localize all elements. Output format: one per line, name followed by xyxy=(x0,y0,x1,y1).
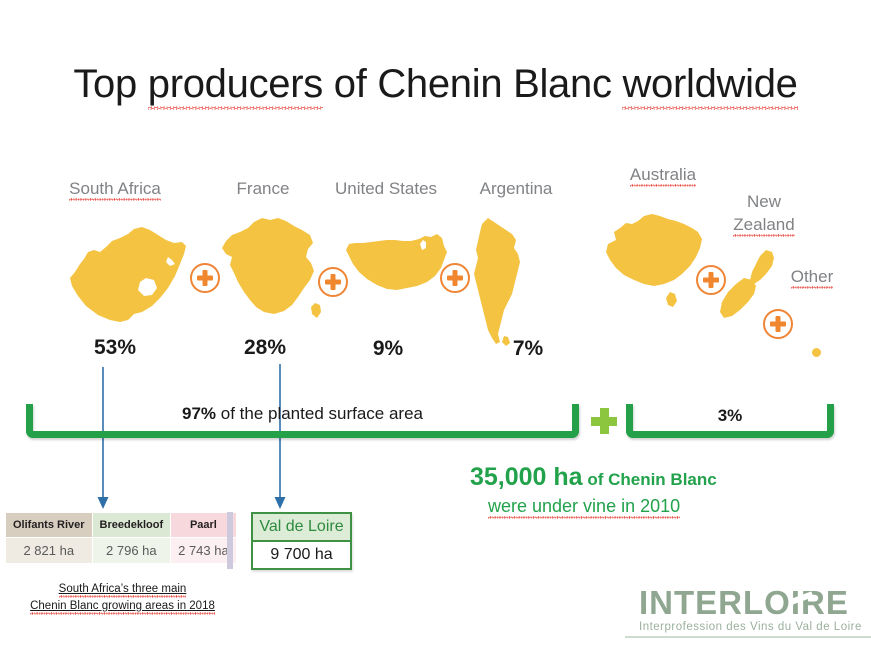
percent-united-states: 9% xyxy=(344,337,432,361)
country-label-text-line2: Zealand xyxy=(733,215,794,237)
argentina-map xyxy=(468,214,524,350)
stat-subline-text: were under vine in 2010 xyxy=(488,496,680,519)
plus-icon-2 xyxy=(318,267,348,297)
table-header-cell: Breedekloof xyxy=(92,513,171,538)
logo-word-a: INTERLOI xyxy=(639,584,801,621)
country-label-text: Argentina xyxy=(480,179,553,198)
val-de-loire-header: Val de Loire xyxy=(253,514,350,542)
table-cell: 2 796 ha xyxy=(92,538,171,564)
percent-france: 28% xyxy=(212,336,318,360)
table-cell: 2 821 ha xyxy=(6,538,93,564)
country-label-united-states: United States xyxy=(316,178,456,199)
logo-divider xyxy=(625,636,871,638)
plus-icon-1 xyxy=(190,263,220,293)
country-label-text: Australia xyxy=(630,165,696,187)
bracket-major-percent: 97% xyxy=(182,404,216,423)
logo-wordmark: INTERLOIRE xyxy=(639,586,867,620)
south-africa-areas-table: Olifants River Breedekloof Paarl 2 821 h… xyxy=(5,512,237,564)
caption-line-1: South Africa’s three main xyxy=(59,583,187,598)
title-part-1: Top xyxy=(73,62,147,106)
caption-line-2: Chenin Blanc growing areas in 2018 xyxy=(30,600,215,615)
bracket-major-text: of the planted surface area xyxy=(216,404,423,423)
country-label-south-africa: South Africa xyxy=(35,178,195,199)
plus-operator-icon xyxy=(591,408,617,434)
percent-south-africa: 53% xyxy=(55,336,175,360)
val-de-loire-box: Val de Loire 9 700 ha xyxy=(251,512,352,570)
stat-of-what: of Chenin Blanc xyxy=(583,470,717,489)
val-de-loire-value: 9 700 ha xyxy=(253,542,350,568)
bracket-minor-label: 3% xyxy=(626,406,834,426)
title-part-2: producers xyxy=(148,62,323,110)
table-header-row: Olifants River Breedekloof Paarl xyxy=(6,513,237,538)
table-right-edge xyxy=(227,512,233,569)
country-label-text: United States xyxy=(335,179,437,198)
page-title: Top producers of Chenin Blanc worldwide xyxy=(0,62,871,107)
united-states-map xyxy=(343,228,457,300)
arrow-val-de-loire xyxy=(262,364,298,512)
plus-icon-3 xyxy=(440,263,470,293)
country-label-text-line1: New xyxy=(747,192,781,211)
country-label-france: France xyxy=(203,178,323,199)
slide-canvas: Top producers of Chenin Blanc worldwide … xyxy=(0,0,871,648)
stat-amount: 35,000 ha xyxy=(470,463,583,491)
table-caption: South Africa’s three main Chenin Blanc g… xyxy=(0,581,245,615)
country-label-text: Other xyxy=(791,267,834,289)
plus-icon-5 xyxy=(763,309,793,339)
percent-argentina: 7% xyxy=(487,337,569,361)
country-label-text: France xyxy=(237,179,290,198)
south-africa-map xyxy=(62,216,190,324)
arrow-south-africa xyxy=(85,367,121,512)
logo-tagline: Interprofession des Vins du Val de Loire xyxy=(639,621,867,633)
country-label-text: South Africa xyxy=(69,179,161,201)
table-row: 2 821 ha 2 796 ha 2 743 ha xyxy=(6,538,237,564)
interloire-logo: INTERLOIRE Interprofession des Vins du V… xyxy=(639,586,867,633)
logo-word-b: RE xyxy=(801,586,849,620)
country-label-argentina: Argentina xyxy=(455,178,577,199)
stat-subline: were under vine in 2010 xyxy=(488,496,680,517)
title-part-4: worldwide xyxy=(622,62,797,110)
title-part-3: of Chenin Blanc xyxy=(323,62,623,106)
stat-headline: 35,000 ha of Chenin Blanc xyxy=(470,463,717,492)
other-dot xyxy=(812,348,821,357)
bracket-major-label: 97% of the planted surface area xyxy=(26,404,579,424)
australia-map xyxy=(600,210,712,310)
france-map xyxy=(218,208,328,326)
table-header-cell: Olifants River xyxy=(6,513,93,538)
country-label-new-zealand: NewZealand xyxy=(717,190,811,236)
country-label-australia: Australia xyxy=(596,164,730,185)
plus-icon-4 xyxy=(696,265,726,295)
